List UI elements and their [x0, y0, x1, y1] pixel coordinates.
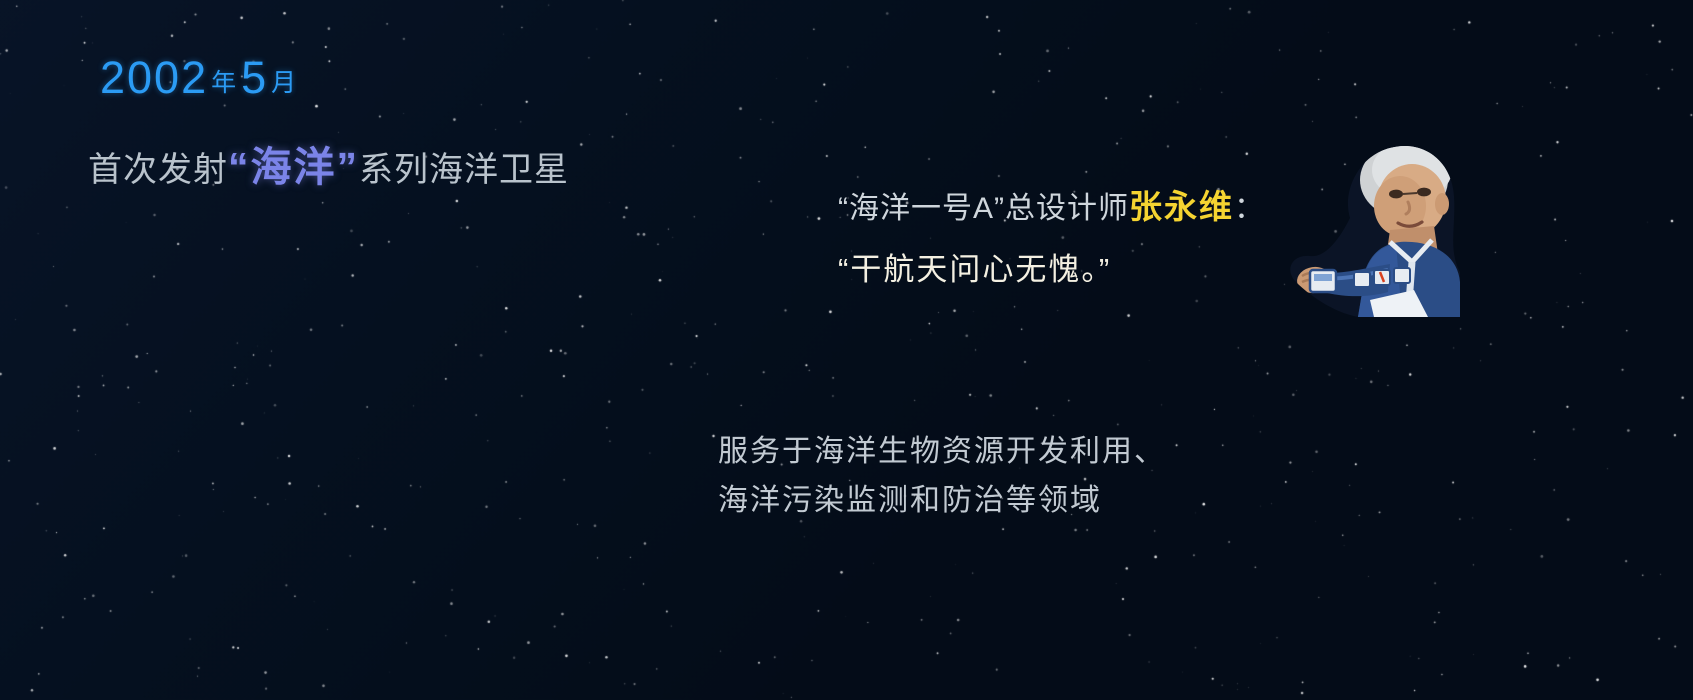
date-month: 5	[241, 52, 268, 103]
description-line-1: 服务于海洋生物资源开发利用、	[718, 428, 1166, 477]
headline-suffix: 系列海洋卫星	[359, 151, 569, 189]
headline-open-quote: “	[228, 144, 251, 190]
quote-attribution: “海洋一号A”总设计师张永维：	[838, 182, 1265, 232]
illustration-canvas: 2002年5月 首次发射“海洋”系列海洋卫星 “海洋一号A”总设计师张永维： “…	[0, 0, 1693, 700]
quote-text: 干航天问心无愧	[850, 252, 1081, 287]
quote-attr-open: “	[838, 192, 849, 225]
quote-close: ”	[1099, 252, 1111, 287]
headline: 首次发射“海洋”系列海洋卫星	[88, 133, 569, 193]
quote-block: “海洋一号A”总设计师张永维： “干航天问心无愧。”	[838, 182, 1265, 289]
description-line-2: 海洋污染监测和防治等领域	[718, 477, 1166, 526]
quote-period: 。	[1081, 252, 1099, 287]
mission-name: 海洋一号A	[849, 192, 994, 225]
quote-open: “	[838, 252, 850, 287]
quote-text-line: “干航天问心无愧。”	[838, 244, 1265, 289]
description-block: 服务于海洋生物资源开发利用、 海洋污染监测和防治等领域	[718, 428, 1166, 525]
date-year-unit: 年	[211, 69, 238, 97]
designer-name: 张永维	[1129, 188, 1234, 225]
headline-prefix: 首次发射	[88, 151, 228, 189]
headline-close-quote: ”	[337, 144, 360, 190]
designer-role: 总设计师	[1005, 192, 1129, 225]
date-year: 2002	[100, 52, 208, 103]
headline-accent: 海洋	[251, 144, 337, 190]
date-month-unit: 月	[271, 69, 298, 97]
portrait-zhang-yongwei	[1262, 122, 1462, 317]
quote-attr-close: ”	[994, 192, 1005, 225]
timeline-date: 2002年5月	[100, 52, 301, 104]
quote-colon: ：	[1234, 192, 1265, 225]
space-illustration	[0, 0, 1693, 700]
